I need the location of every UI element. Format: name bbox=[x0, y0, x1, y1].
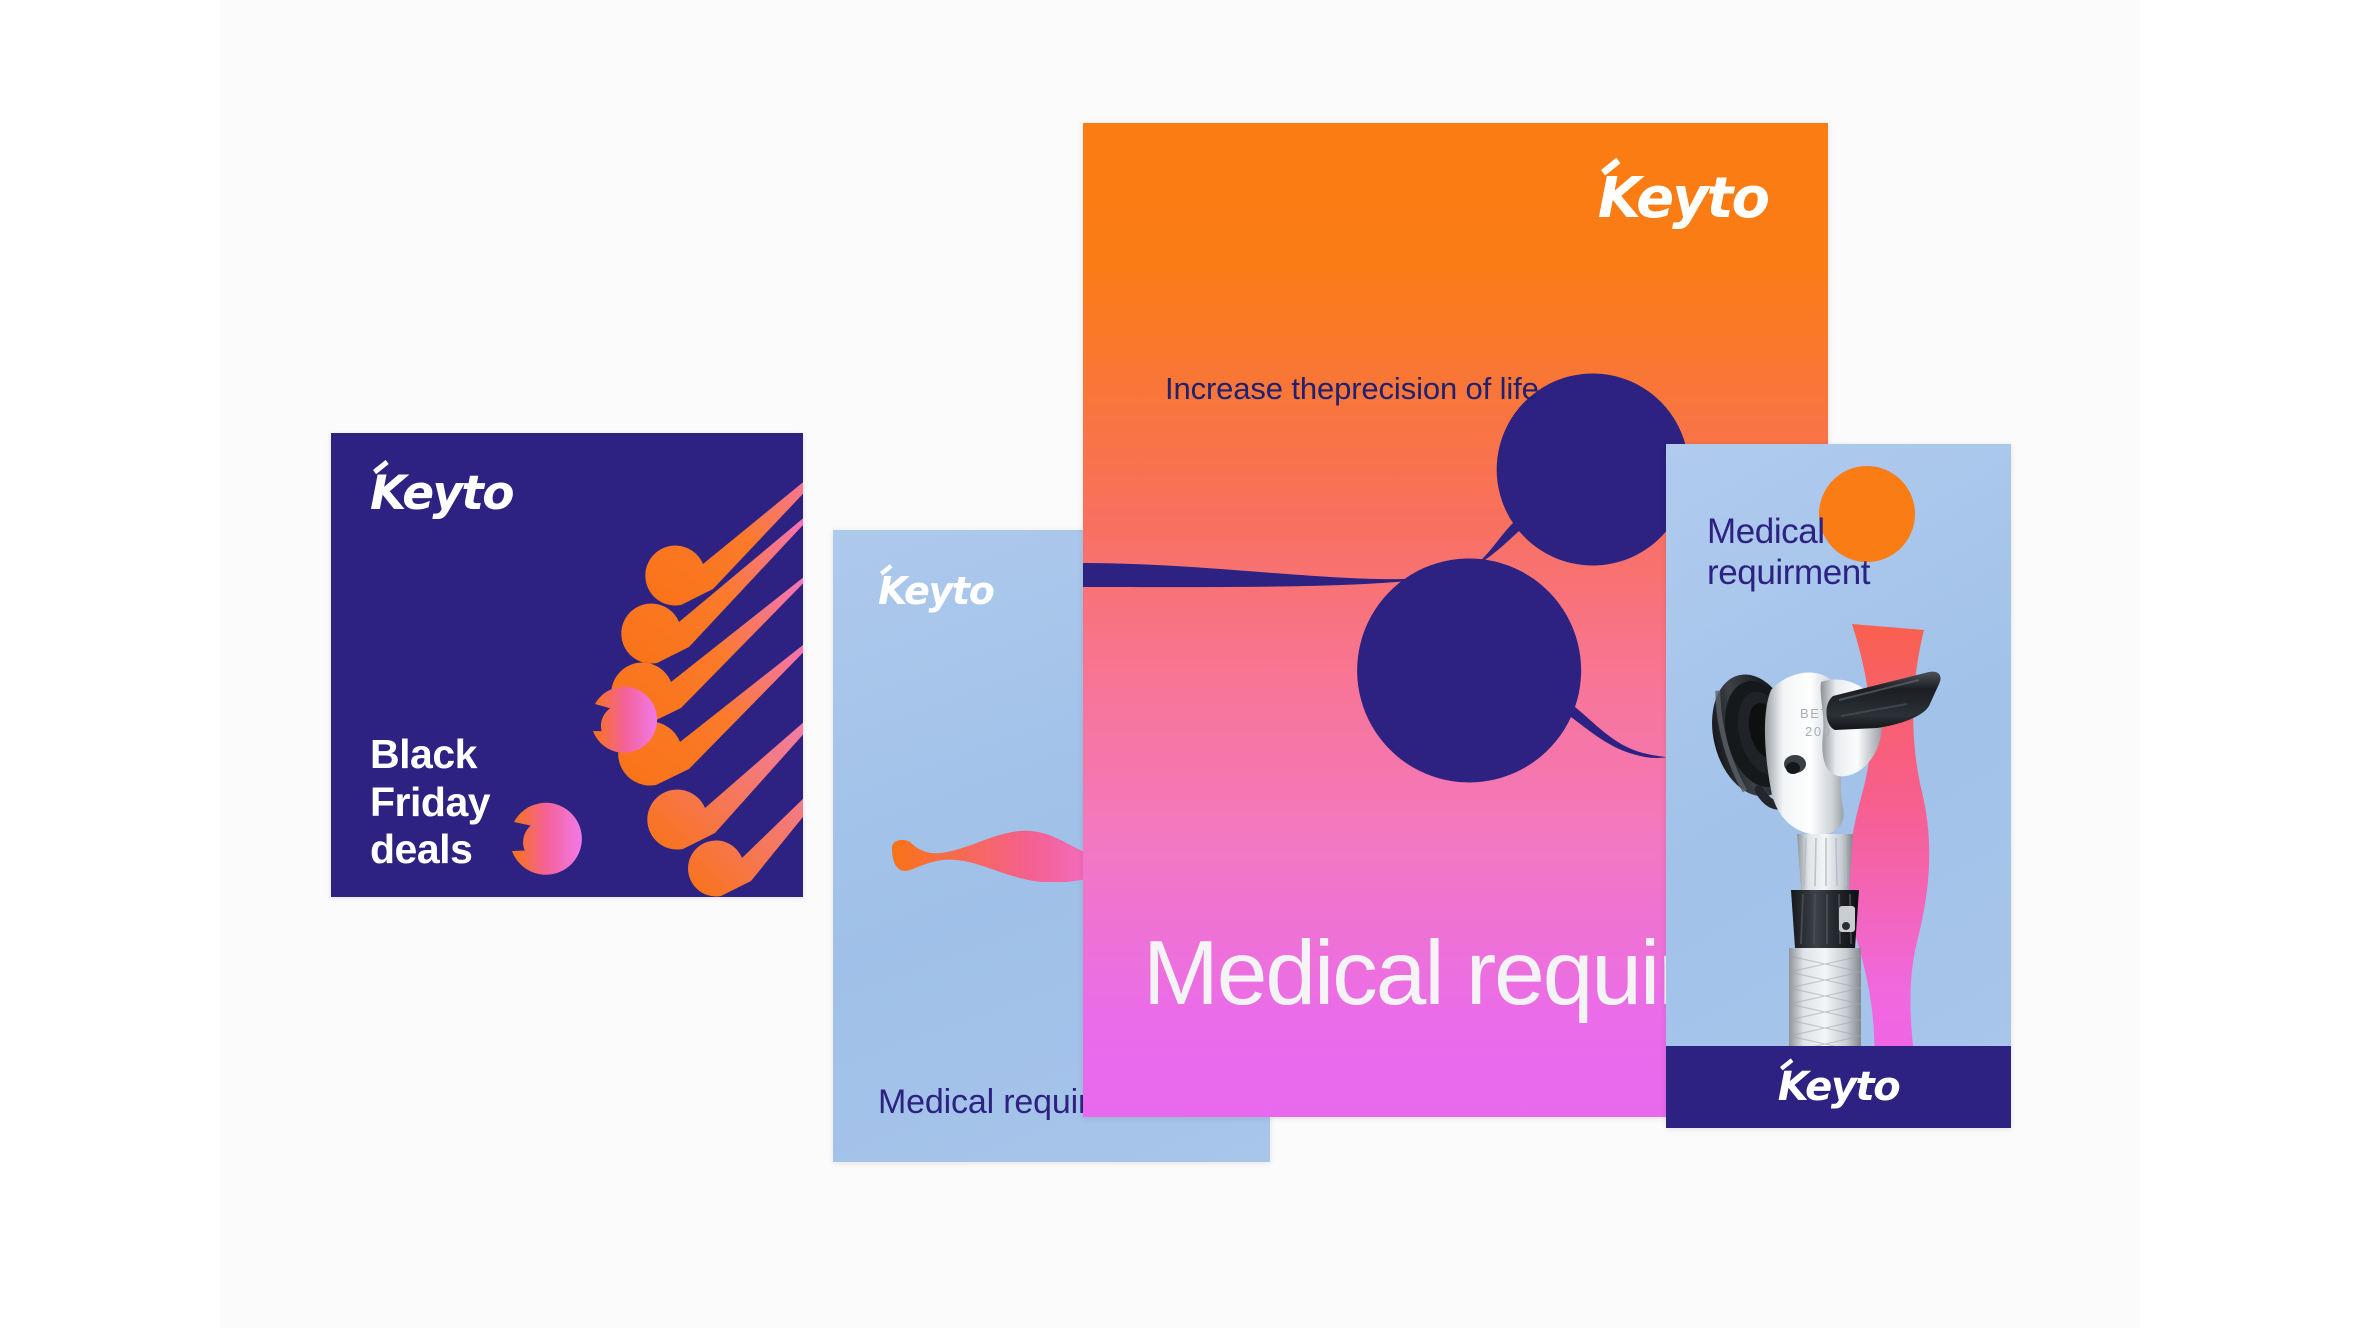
poster-right-banner[interactable]: BETA 200 bbox=[1666, 444, 2011, 1128]
device-model-line-2: 200 bbox=[1805, 724, 1832, 739]
right-banner-footer: Keyto bbox=[1666, 1046, 2011, 1128]
keyto-logo: Keyto bbox=[878, 572, 994, 610]
right-banner-heading: Medical requirment bbox=[1707, 512, 1870, 593]
poster-black-friday[interactable]: Keyto Black Friday deals bbox=[331, 433, 803, 897]
keyto-logo: Keyto bbox=[370, 470, 513, 517]
keyto-logo: Keyto bbox=[1778, 1067, 1900, 1107]
otoscope-device: BETA 200 bbox=[1693, 612, 1943, 1052]
gradient-poster-tagline: Increase theprecision of life bbox=[1165, 371, 1539, 407]
black-friday-headline: Black Friday deals bbox=[370, 731, 490, 874]
keyto-logo: Keyto bbox=[1598, 171, 1768, 227]
